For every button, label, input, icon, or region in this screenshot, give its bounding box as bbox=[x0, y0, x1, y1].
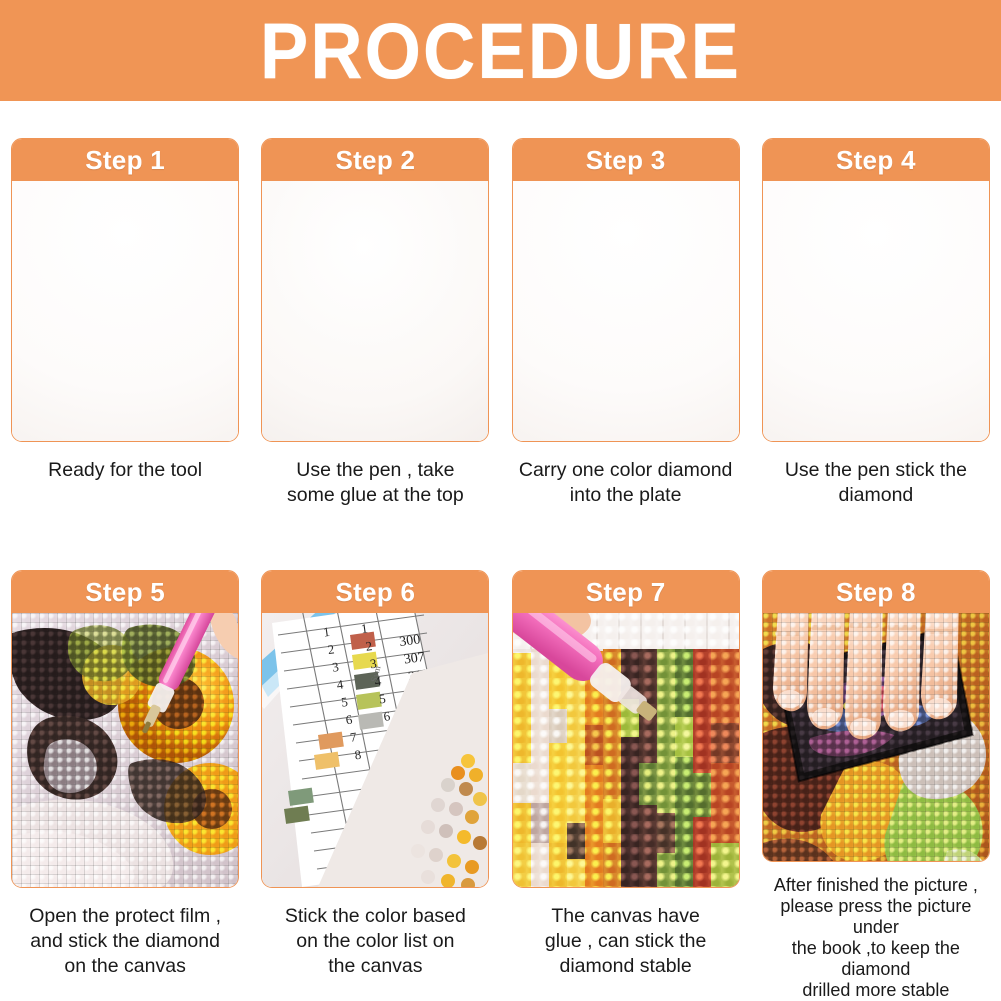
step-photo-5 bbox=[12, 613, 238, 887]
step-card-2[interactable]: Step 2 bbox=[261, 138, 489, 442]
bead-grid-8 bbox=[763, 613, 989, 862]
step-caption-3: Carry one color diamond into the plate bbox=[510, 458, 742, 508]
step-header-3: Step 3 bbox=[513, 139, 739, 181]
steps-row-top: Step 1 bbox=[0, 138, 1001, 538]
step-photo-2 bbox=[262, 181, 488, 441]
step-photo-7 bbox=[513, 613, 739, 887]
step-photo-6: 123 456 78 123 456 7AB CF 30 bbox=[262, 613, 488, 887]
step-photo-4 bbox=[763, 181, 989, 441]
step-photo-3 bbox=[513, 181, 739, 441]
step-cell-5: Step 5 bbox=[0, 570, 250, 1001]
step-cell-4: Step 4 bbox=[751, 138, 1001, 538]
step-header-6: Step 6 bbox=[262, 571, 488, 613]
step-caption-8: After finished the picture , please pres… bbox=[755, 875, 997, 1001]
step-header-4: Step 4 bbox=[763, 139, 989, 181]
step-cell-2: Step 2 bbox=[250, 138, 500, 538]
step-cell-7: Step 7 bbox=[501, 570, 751, 1001]
svg-text:300: 300 bbox=[399, 632, 422, 650]
step-header-5: Step 5 bbox=[12, 571, 238, 613]
step-header-2: Step 2 bbox=[262, 139, 488, 181]
step-card-4[interactable]: Step 4 bbox=[762, 138, 990, 442]
step-cell-1: Step 1 bbox=[0, 138, 250, 538]
step-photo-8 bbox=[763, 613, 989, 862]
step-caption-6: Stick the color based on the color list … bbox=[259, 904, 491, 979]
step-caption-1: Ready for the tool bbox=[9, 458, 241, 483]
step-caption-2: Use the pen , take some glue at the top bbox=[259, 458, 491, 508]
svg-text:307: 307 bbox=[403, 650, 426, 668]
step-card-8[interactable]: Step 8 bbox=[762, 570, 990, 862]
step-header-1: Step 1 bbox=[12, 139, 238, 181]
step-card-7[interactable]: Step 7 bbox=[512, 570, 740, 888]
step-card-1[interactable]: Step 1 bbox=[11, 138, 239, 442]
step-card-6[interactable]: Step 6 bbox=[261, 570, 489, 888]
procedure-infographic: PROCEDURE Step 1 bbox=[0, 0, 1001, 1001]
pen-overlay-5 bbox=[12, 613, 238, 887]
page-banner: PROCEDURE bbox=[0, 0, 1001, 101]
step-photo-1 bbox=[12, 181, 238, 441]
step-caption-4: Use the pen stick the diamond bbox=[760, 458, 992, 508]
step-cell-6: Step 6 bbox=[250, 570, 500, 1001]
step-card-5[interactable]: Step 5 bbox=[11, 570, 239, 888]
step-caption-5: Open the protect film , and stick the di… bbox=[9, 904, 241, 979]
page-title: PROCEDURE bbox=[260, 11, 741, 90]
step-header-7: Step 7 bbox=[513, 571, 739, 613]
step-cell-8: Step 8 bbox=[751, 570, 1001, 1001]
pen-overlay-7 bbox=[513, 613, 739, 887]
step-cell-3: Step 3 bbox=[501, 138, 751, 538]
color-chart-photo: 123 456 78 123 456 7AB CF 30 bbox=[262, 613, 488, 887]
steps-row-bottom: Step 5 bbox=[0, 570, 1001, 1001]
step-caption-7: The canvas have glue , can stick the dia… bbox=[510, 904, 742, 979]
step-card-3[interactable]: Step 3 bbox=[512, 138, 740, 442]
step-header-8: Step 8 bbox=[763, 571, 989, 613]
